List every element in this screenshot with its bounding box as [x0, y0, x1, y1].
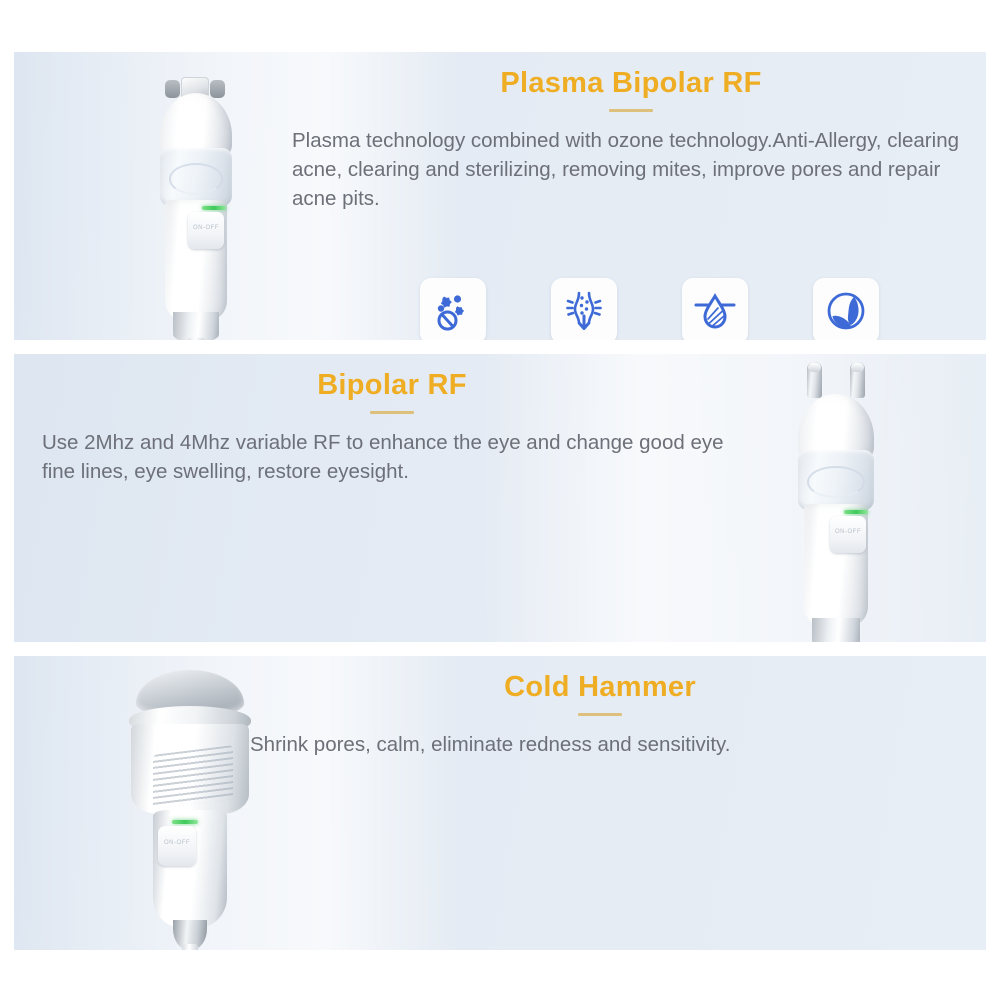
feature-anti-inflammation[interactable]: Anti inflammation	[537, 278, 630, 340]
page-title-plasma: Plasma Bipolar RF	[292, 68, 970, 100]
feature-acne-scar-repair[interactable]: Acne Scar Repair	[799, 278, 892, 340]
infographic-page: ON-OFF Plasma Bipolar RF Plasma technolo…	[0, 0, 1000, 1000]
power-led	[172, 820, 198, 824]
feature-pore-shrinking[interactable]: Pore Shrinking	[668, 278, 761, 340]
power-led	[844, 510, 868, 514]
title-underline	[370, 411, 414, 414]
rf-electrode-right	[850, 362, 865, 398]
anti-allergy-icon	[420, 278, 486, 340]
bipolar-rf-handpiece: ON-OFF	[766, 362, 906, 642]
page-title-cold: Cold Hammer	[250, 672, 950, 704]
title-underline	[578, 713, 622, 716]
plasma-bipolar-rf-handpiece: ON-OFF	[126, 60, 266, 340]
anti-inflammation-icon	[551, 278, 617, 340]
cold-barrel	[131, 724, 249, 814]
on-off-switch[interactable]: ON-OFF	[158, 826, 196, 866]
feature-anti-allergy[interactable]: Anti-Allergy	[406, 278, 499, 340]
cold-hammer-handpiece: ON-OFF	[110, 662, 270, 950]
electrode-cap-left	[165, 80, 180, 98]
section-plasma-bipolar-rf: ON-OFF Plasma Bipolar RF Plasma technolo…	[14, 52, 986, 340]
vent-grille	[153, 745, 233, 809]
section-bipolar-rf: ON-OFF Bipolar RF Use 2Mhz and 4Mhz vari…	[14, 354, 986, 642]
bipolar-text-block: Bipolar RF Use 2Mhz and 4Mhz variable RF…	[42, 370, 742, 486]
power-led	[202, 206, 226, 210]
section-cold-hammer: ON-OFF Cold Hammer Shrink pores, calm, e…	[14, 656, 986, 950]
pore-shrinking-icon	[682, 278, 748, 340]
plasma-text-block: Plasma Bipolar RF Plasma technology comb…	[292, 68, 970, 213]
on-off-switch[interactable]: ON-OFF	[830, 516, 866, 553]
electrode-cap-right	[210, 80, 225, 98]
cold-text-block: Cold Hammer Shrink pores, calm, eliminat…	[250, 672, 950, 759]
title-underline	[609, 109, 653, 112]
cold-description: Shrink pores, calm, eliminate redness an…	[250, 730, 950, 759]
plasma-feature-row: Anti-Allergy	[406, 278, 892, 340]
plasma-description: Plasma technology combined with ozone te…	[292, 126, 970, 213]
bipolar-description: Use 2Mhz and 4Mhz variable RF to enhance…	[42, 428, 742, 486]
on-off-switch[interactable]: ON-OFF	[188, 212, 224, 249]
acne-scar-repair-icon	[813, 278, 879, 340]
page-title-bipolar: Bipolar RF	[42, 370, 742, 402]
rf-electrode-left	[807, 362, 822, 398]
